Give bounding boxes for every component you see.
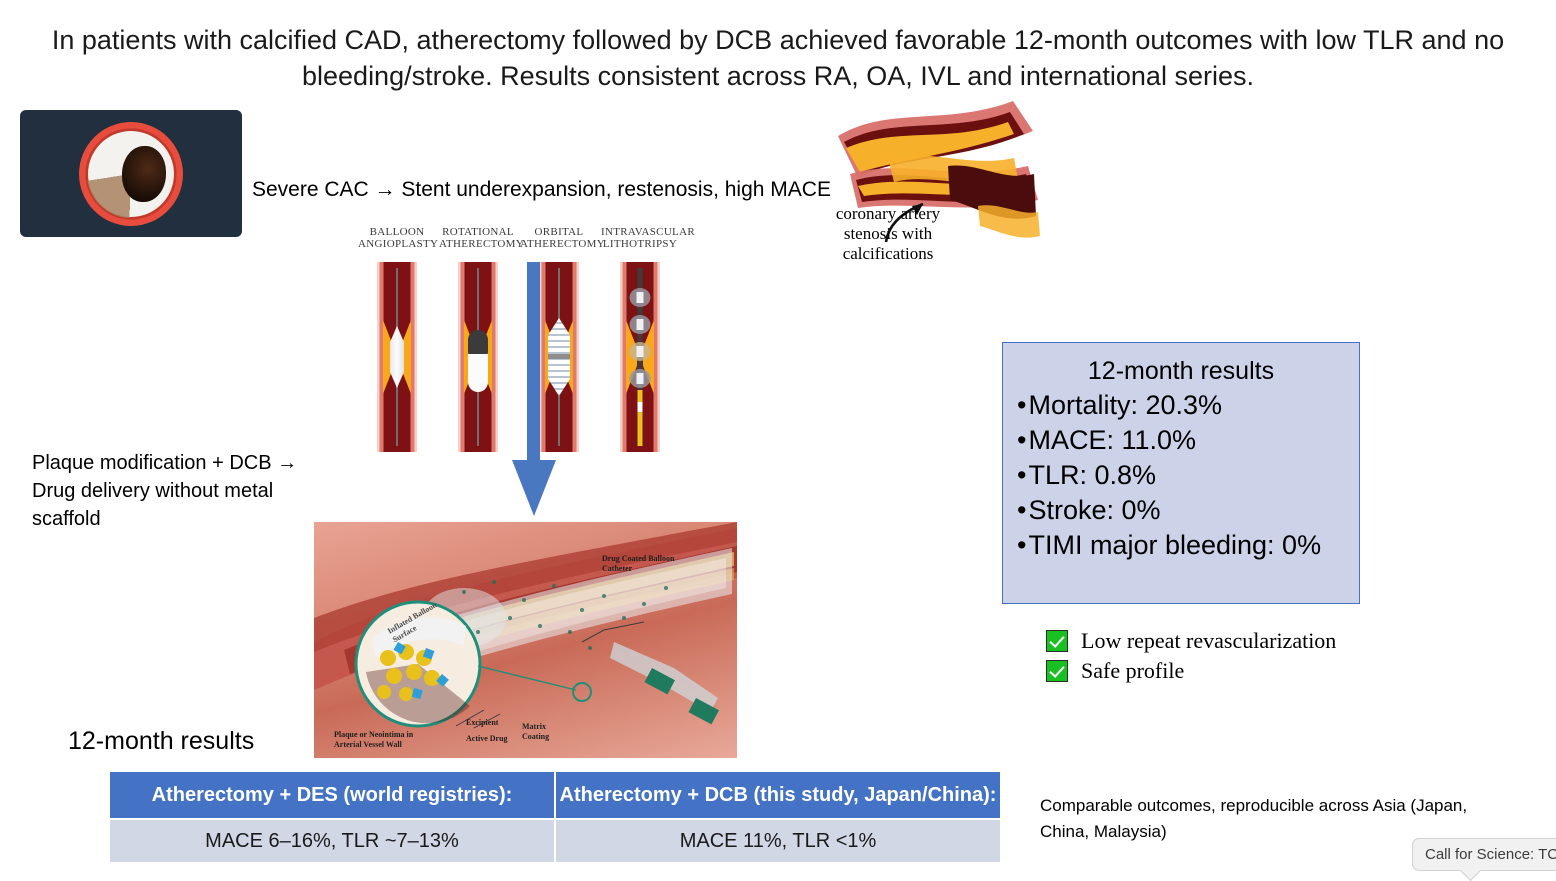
device-balloon-angioplasty: BALLOON ANGIOPLASTY	[358, 226, 436, 452]
result-item-stroke: Stroke: 0%	[1017, 493, 1359, 528]
table-header-row: Atherectomy + DES (world registries): At…	[110, 772, 1000, 818]
device-label-line2: ANGIOPLASTY	[358, 238, 436, 250]
device-rotational-atherectomy: ROTATIONAL ATHERECTOMY	[439, 226, 517, 452]
artery-caption: coronary artery stenosis with calcificat…	[828, 204, 948, 264]
checklist-item: Safe profile	[1046, 658, 1336, 684]
table-row: MACE 6–16%, TLR ~7–13% MACE 11%, TLR <1%	[110, 820, 1000, 862]
plaque-modification-note: Plaque modification + DCB → Drug deliver…	[32, 449, 332, 533]
vessel-segment	[620, 262, 660, 452]
result-item-timi-bleeding: TIMI major bleeding: 0%	[1017, 528, 1359, 563]
severe-cac-statement: Severe CAC → Stent underexpansion, reste…	[252, 178, 831, 202]
vessel-segment	[458, 262, 498, 452]
ivl-marker-2	[637, 319, 644, 330]
result-item-mortality: Mortality: 20.3%	[1017, 388, 1359, 423]
comparison-table: Atherectomy + DES (world registries): At…	[110, 772, 1000, 862]
checklist-label: Low repeat revascularization	[1081, 628, 1336, 654]
results-list: Mortality: 20.3% MACE: 11.0% TLR: 0.8% S…	[1003, 388, 1359, 563]
device-label-line2: ATHERECTOMY	[439, 238, 517, 250]
checklist-item: Low repeat revascularization	[1046, 628, 1336, 654]
vessel-lumen	[122, 146, 166, 202]
ivl-tip-marker	[638, 402, 643, 412]
twelve-month-results-box: 12-month results Mortality: 20.3% MACE: …	[1002, 342, 1360, 604]
device-label-line1: BALLOON	[358, 226, 436, 238]
device-label-line1: INTRAVASCULAR	[601, 226, 679, 238]
badge-label: Call for Science: TCT	[1425, 846, 1556, 863]
checkmark-icon	[1046, 660, 1068, 682]
device-label-line2: ATHERECTOMY	[520, 238, 598, 250]
vessel-segment	[377, 262, 417, 452]
table-cell-dcb-outcomes: MACE 11%, TLR <1%	[556, 820, 1000, 862]
device-intravascular-lithotripsy: INTRAVASCULAR LITHOTRIPSY	[601, 226, 679, 452]
call-for-science-badge[interactable]: Call for Science: TCT	[1412, 838, 1556, 871]
result-item-mace: MACE: 11.0%	[1017, 423, 1359, 458]
results-box-heading: 12-month results	[1003, 357, 1359, 386]
burr-shaft-tip	[468, 354, 488, 392]
checkmark-icon	[1046, 630, 1068, 652]
ivl-marker-1	[637, 292, 644, 303]
slide-title: In patients with calcified CAD, atherect…	[0, 22, 1556, 94]
ivl-marker-4	[637, 373, 644, 384]
arrow-shaft	[527, 262, 540, 468]
badge-pointer	[1460, 860, 1481, 881]
dcb-label-matrix-coating: Matrix Coating	[522, 722, 560, 742]
device-label-line2: LITHOTRIPSY	[601, 238, 679, 250]
ivl-marker-3	[637, 346, 644, 357]
device-label-line1: ORBITAL	[520, 226, 598, 238]
rotational-burr	[468, 330, 488, 356]
table-cell-des-outcomes: MACE 6–16%, TLR ~7–13%	[110, 820, 556, 862]
device-label-line1: ROTATIONAL	[439, 226, 517, 238]
dcb-label-active-drug: Active Drug	[466, 734, 508, 744]
table-section-label: 12-month results	[68, 727, 254, 756]
key-takeaway-checklist: Low repeat revascularization Safe profil…	[1046, 628, 1336, 688]
dcb-label-plaque-wall: Plaque or Neointima in Arterial Vessel W…	[334, 730, 420, 750]
table-header-des: Atherectomy + DES (world registries):	[110, 772, 556, 818]
artery-svg	[828, 96, 1050, 296]
checklist-label: Safe profile	[1081, 658, 1184, 684]
calcified-plaque-cross-section-image	[20, 110, 242, 237]
coronary-artery-stenosis-image: coronary artery stenosis with calcificat…	[828, 96, 1050, 296]
dcb-label-excipient: Excipient	[466, 718, 498, 728]
ivl-distal-tip	[638, 390, 643, 446]
arrow-head	[512, 460, 556, 516]
table-header-dcb: Atherectomy + DCB (this study, Japan/Chi…	[556, 772, 1000, 818]
dcb-label-catheter: Drug Coated Balloon Catheter	[602, 554, 682, 574]
result-item-tlr: TLR: 0.8%	[1017, 458, 1359, 493]
downward-flow-arrow	[512, 262, 556, 516]
drug-coated-balloon-illustration: Drug Coated Balloon Catheter Inflated Ba…	[314, 522, 737, 758]
